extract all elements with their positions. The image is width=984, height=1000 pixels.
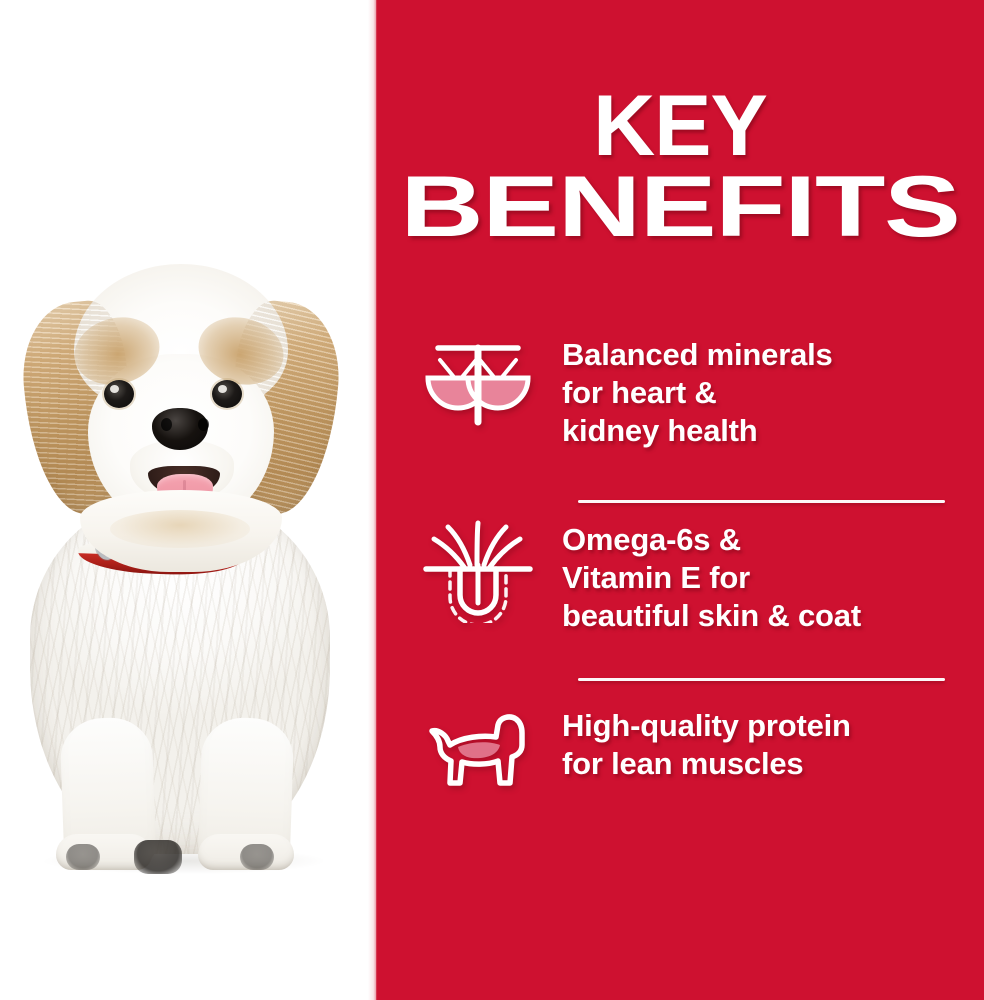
dog-paw-pad-center (134, 840, 182, 874)
benefit-divider-2 (578, 678, 945, 681)
dog-eye-highlight-left (110, 385, 119, 393)
dog-nostril-right (198, 418, 209, 431)
benefit-divider-1 (578, 500, 945, 503)
balance-scale-icon (420, 334, 536, 438)
benefit-3-line-2: for lean muscles (562, 746, 803, 781)
dog-silhouette-icon (420, 705, 536, 809)
benefit-1-line-1: Balanced minerals (562, 337, 833, 372)
hair-follicle-icon (420, 519, 536, 623)
dog-eye-highlight-right (218, 385, 227, 393)
benefit-item-3: High-quality protein for lean muscles (420, 681, 960, 809)
key-benefits-panel: KEY BENEFITS (0, 0, 984, 1000)
benefit-1-line-2: for heart & (562, 375, 717, 410)
benefit-2-line-1: Omega-6s & (562, 522, 741, 557)
benefit-item-2: Omega-6s & Vitamin E for beautiful skin … (420, 503, 960, 678)
product-photo-panel (0, 0, 376, 1000)
benefit-1-text: Balanced minerals for heart & kidney hea… (562, 334, 833, 449)
page-title-line-2: BENEFITS (273, 167, 984, 248)
dog-eye-left (104, 380, 134, 408)
dog-paw-pad-right (240, 844, 274, 870)
benefit-item-1: Balanced minerals for heart & kidney hea… (420, 330, 960, 500)
benefit-2-text: Omega-6s & Vitamin E for beautiful skin … (562, 519, 861, 634)
dog-chest-tan-patch (110, 510, 250, 548)
dog-eye-right (212, 380, 242, 408)
dog-paw-pad-left (66, 844, 100, 870)
benefits-list: Balanced minerals for heart & kidney hea… (420, 330, 960, 809)
benefit-3-text: High-quality protein for lean muscles (562, 705, 851, 783)
benefit-2-line-3: beautiful skin & coat (562, 598, 861, 633)
benefit-3-line-1: High-quality protein (562, 708, 851, 743)
shih-tzu-dog-photo (4, 248, 360, 848)
page-title: KEY BENEFITS (376, 86, 984, 248)
page-title-line-1: KEY (376, 86, 984, 167)
benefit-2-line-2: Vitamin E for (562, 560, 750, 595)
dog-head (26, 258, 336, 548)
benefit-1-line-3: kidney health (562, 413, 758, 448)
dog-nostril-left (161, 418, 172, 431)
